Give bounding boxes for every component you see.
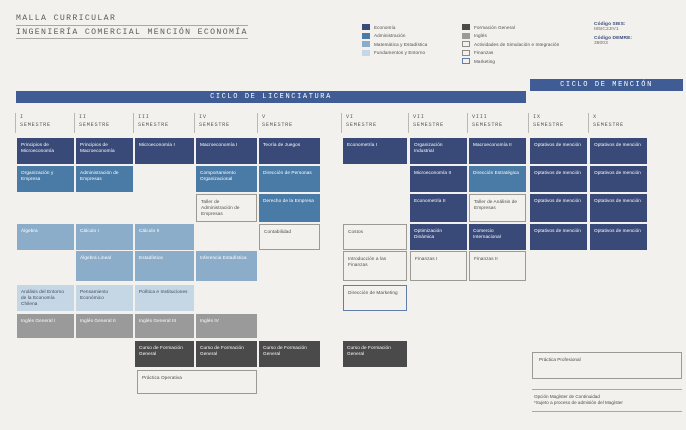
course-box-wide[interactable]: Práctica Operativa: [137, 370, 257, 394]
semester-word: SEMESTRE: [262, 122, 318, 130]
legend-category-group-2: Formación GeneralInglésActividades de Si…: [462, 24, 559, 64]
legend-swatch-icon: [362, 24, 370, 30]
course-box[interactable]: Dirección Estratégica: [469, 166, 526, 192]
course-box[interactable]: Optativos de mención: [590, 224, 647, 250]
course-box[interactable]: Macroeconomía I: [196, 138, 257, 164]
course-box[interactable]: Inglés General II: [76, 314, 133, 338]
semester-roman: III: [138, 114, 192, 122]
semester-header-v: VSEMESTRE: [257, 113, 318, 133]
legend-item-label: Finanzas: [474, 50, 493, 55]
course-box[interactable]: Estadística: [135, 251, 194, 281]
course-box[interactable]: Curso de Formación General: [135, 341, 194, 367]
course-box[interactable]: Finanzas II: [469, 251, 526, 281]
course-box[interactable]: Álgebra: [17, 224, 74, 250]
course-box[interactable]: Comercio Internacional: [469, 224, 526, 250]
magister-note-line2: *Sujeto a proceso de admisión del Magíst…: [534, 400, 680, 406]
legend-item-label: Fundamentos y Entorno: [374, 50, 425, 55]
course-box[interactable]: Inglés General I: [17, 314, 74, 338]
course-box[interactable]: Macroeconomía II: [469, 138, 526, 164]
legend-swatch-icon: [362, 50, 370, 56]
semester-word: SEMESTRE: [533, 122, 585, 130]
semester-word: SEMESTRE: [79, 122, 131, 130]
legend-item: Fundamentos y Entorno: [362, 50, 427, 56]
course-box[interactable]: Econometría I: [343, 138, 407, 164]
legend-item-label: Marketing: [474, 59, 495, 64]
semester-header-ix: IXSEMESTRE: [528, 113, 585, 133]
code-group: Código SIES:I85IC2JIV1: [594, 22, 632, 32]
legend-swatch-icon: [462, 58, 470, 64]
course-box[interactable]: Finanzas I: [410, 251, 467, 281]
legend-item: Finanzas: [462, 50, 559, 56]
course-box[interactable]: Política e Instituciones: [135, 285, 194, 311]
semester-word: SEMESTRE: [20, 122, 72, 130]
course-box[interactable]: Curso de Formación General: [343, 341, 407, 367]
legend-item-label: Economía: [374, 25, 395, 30]
cycle-bar-mencion: CICLO DE MENCIÓN: [530, 79, 683, 91]
title-sub: INGENIERÍA COMERCIAL MENCIÓN ECONOMÍA: [16, 28, 248, 40]
code-value: I85IC2JIV1: [594, 27, 632, 32]
semester-header-vii: VIISEMESTRE: [408, 113, 465, 133]
semester-header-vi: VISEMESTRE: [341, 113, 405, 133]
course-box[interactable]: Inferencia Estadística: [196, 251, 257, 281]
course-box[interactable]: Optativos de mención: [530, 138, 587, 164]
legend-item: Inglés: [462, 33, 559, 39]
legend-swatch-icon: [362, 33, 370, 39]
cycle-bar-licenciatura: CICLO DE LICENCIATURA: [16, 91, 526, 103]
semester-header-i: ISEMESTRE: [15, 113, 72, 133]
course-box[interactable]: Optativos de mención: [530, 166, 587, 192]
course-box[interactable]: Optativos de mención: [590, 194, 647, 222]
course-box[interactable]: Cálculo II: [135, 224, 194, 250]
legend-swatch-icon: [462, 41, 470, 47]
course-box[interactable]: Análisis del Entorno de la Economía Chil…: [17, 285, 74, 311]
course-box[interactable]: Microeconomía I: [135, 138, 194, 164]
magister-note: Opción Magíster de Continuidad *Sujeto a…: [532, 389, 682, 412]
course-box[interactable]: Curso de Formación General: [196, 341, 257, 367]
course-box[interactable]: Optativos de mención: [590, 138, 647, 164]
course-box[interactable]: Álgebra Lineal: [76, 251, 133, 281]
course-box[interactable]: Curso de Formación General: [259, 341, 320, 367]
semester-header-iv: IVSEMESTRE: [194, 113, 255, 133]
semester-roman: VI: [346, 114, 405, 122]
semester-roman: I: [20, 114, 72, 122]
program-codes: Código SIES:I85IC2JIV1Código DEMRE:38003: [594, 22, 632, 50]
legend-swatch-icon: [362, 41, 370, 47]
course-box[interactable]: Cálculo I: [76, 224, 133, 250]
semester-roman: VIII: [472, 114, 524, 122]
course-box[interactable]: Administración de Empresas: [76, 166, 133, 192]
malla-curricular-page: MALLA CURRICULAR INGENIERÍA COMERCIAL ME…: [0, 0, 686, 430]
semester-roman: IV: [199, 114, 255, 122]
semester-header-viii: VIIISEMESTRE: [467, 113, 524, 133]
legend-item-label: Inglés: [474, 33, 487, 38]
legend-item: Marketing: [462, 58, 559, 64]
course-box[interactable]: Microeconomía II: [410, 166, 467, 192]
semester-roman: VII: [413, 114, 465, 122]
course-box[interactable]: Principios de Microeconomía: [17, 138, 74, 164]
course-box[interactable]: Econometría II: [410, 194, 467, 222]
course-box[interactable]: Dirección de Personas: [259, 166, 320, 192]
legend-item: Administración: [362, 33, 427, 39]
legend-item: Formación General: [462, 24, 559, 30]
legend-item-label: Actividades de Simulación e Integración: [474, 42, 559, 47]
title-main: MALLA CURRICULAR: [16, 14, 248, 26]
legend-item-label: Administración: [374, 33, 406, 38]
code-group: Código DEMRE:38003: [594, 36, 632, 46]
page-title: MALLA CURRICULAR INGENIERÍA COMERCIAL ME…: [16, 14, 248, 41]
legend-category-group-1: EconomíaAdministraciónMatemática y Estad…: [362, 24, 427, 56]
semester-word: SEMESTRE: [413, 122, 465, 130]
course-box[interactable]: Comportamiento Organizacional: [196, 166, 257, 192]
semester-word: SEMESTRE: [472, 122, 524, 130]
course-box[interactable]: Principios de Macroeconomía: [76, 138, 133, 164]
semester-header-ii: IISEMESTRE: [74, 113, 131, 133]
semester-roman: II: [79, 114, 131, 122]
course-box[interactable]: Pensamiento Económico: [76, 285, 133, 311]
semester-word: SEMESTRE: [593, 122, 645, 130]
course-box[interactable]: Dirección de Marketing: [343, 285, 407, 311]
course-box[interactable]: Taller de Análisis de Empresas: [469, 194, 526, 222]
course-box[interactable]: Optativos de mención: [530, 224, 587, 250]
course-box[interactable]: Introducción a las Finanzas: [343, 251, 407, 281]
course-box[interactable]: Costos: [343, 224, 407, 250]
semester-header-x: XSEMESTRE: [588, 113, 645, 133]
course-box[interactable]: Taller de Administración de Empresas: [196, 194, 257, 222]
legend-item-label: Matemática y Estadística: [374, 42, 427, 47]
legend-item: Matemática y Estadística: [362, 41, 427, 47]
legend-item: Economía: [362, 24, 427, 30]
course-box[interactable]: Inglés General III: [135, 314, 194, 338]
semester-roman: IX: [533, 114, 585, 122]
legend-swatch-icon: [462, 33, 470, 39]
legend-swatch-icon: [462, 50, 470, 56]
legend-item: Actividades de Simulación e Integración: [462, 41, 559, 47]
semester-roman: V: [262, 114, 318, 122]
legend-swatch-icon: [462, 24, 470, 30]
course-box[interactable]: Inglés IV: [196, 314, 257, 338]
course-box[interactable]: Optimización Dinámica: [410, 224, 467, 250]
course-box[interactable]: Optativos de mención: [530, 194, 587, 222]
practica-profesional-box[interactable]: Práctica Profesional: [532, 352, 682, 379]
course-box[interactable]: Optativos de mención: [590, 166, 647, 192]
semester-word: SEMESTRE: [138, 122, 192, 130]
course-box[interactable]: Teoría de Juegos: [259, 138, 320, 164]
semester-roman: X: [593, 114, 645, 122]
course-box[interactable]: Derecho de la Empresa: [259, 194, 320, 222]
course-box[interactable]: Organización Industrial: [410, 138, 467, 164]
code-value: 38003: [594, 41, 632, 46]
course-box[interactable]: Contabilidad: [259, 224, 320, 250]
semester-word: SEMESTRE: [346, 122, 405, 130]
course-box[interactable]: Organización y Empresa: [17, 166, 74, 192]
semester-word: SEMESTRE: [199, 122, 255, 130]
semester-header-iii: IIISEMESTRE: [133, 113, 192, 133]
legend-item-label: Formación General: [474, 25, 515, 30]
